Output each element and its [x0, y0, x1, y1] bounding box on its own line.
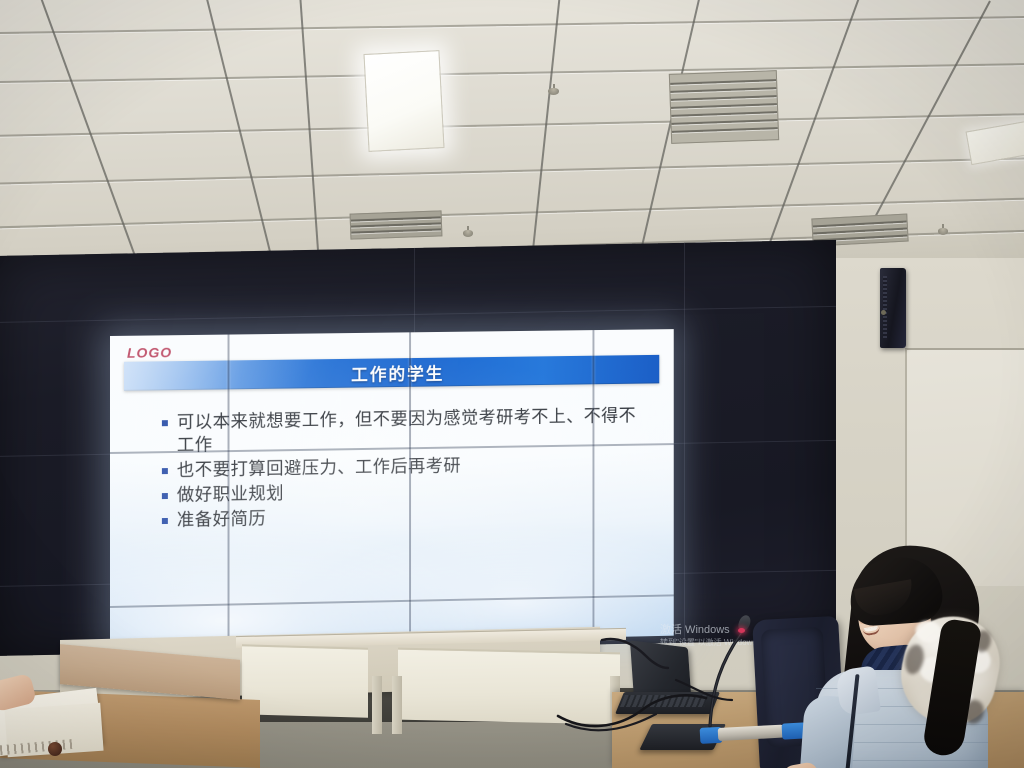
list-item: 可以本来就想要工作，但不要因为感觉考研考不上、不得不工作	[162, 404, 653, 457]
bullet-text: 也不要打算回避压力、工作后再考研	[177, 455, 461, 483]
laptop-keyboard[interactable]	[620, 695, 709, 707]
bullet-text: 做好职业规划	[177, 482, 284, 507]
microphone-led-indicator	[738, 628, 745, 633]
slide-logo: LOGO	[127, 344, 172, 361]
slide-title-bar: 工作的学生	[124, 355, 659, 391]
hvac-diffuser	[350, 210, 443, 239]
table-leg	[372, 676, 382, 734]
bullet-square-icon	[162, 493, 168, 499]
jacket-collar	[835, 665, 881, 716]
speaker-mount-bolt	[881, 310, 886, 315]
slide-bullet-list: 可以本来就想要工作，但不要因为感觉考研考不上、不得不工作 也不要打算回避压力、工…	[162, 404, 653, 534]
slide-title: 工作的学生	[351, 360, 444, 386]
ceiling-rail	[872, 1, 991, 223]
microphone-body	[718, 725, 785, 741]
desk-object	[48, 742, 62, 756]
bullet-square-icon	[162, 420, 168, 426]
hvac-diffuser	[669, 70, 779, 144]
table-modesty-panel	[242, 644, 368, 718]
sprinkler-head	[548, 84, 559, 98]
ceiling-rail	[204, 0, 276, 272]
ceiling-rail	[299, 0, 322, 272]
bullet-text: 可以本来就想要工作，但不要因为感觉考研考不上、不得不工作	[177, 404, 653, 457]
lcd-video-wall-screen[interactable]: LOGO 工作的学生 可以本来就想要工作，但不要因为感觉考研考不上、不得不工作 …	[110, 329, 674, 648]
wall-speaker	[880, 268, 906, 348]
bullet-text: 准备好简历	[177, 508, 266, 533]
table-leg	[392, 676, 402, 734]
laptop-base[interactable]	[615, 692, 720, 714]
suspended-ceiling	[0, 0, 1024, 272]
ceiling-rail	[528, 0, 561, 272]
seated-woman	[806, 528, 1024, 768]
bullet-square-icon	[162, 518, 168, 524]
bullet-square-icon	[162, 468, 168, 474]
sprinkler-head	[463, 226, 473, 239]
table-modesty-panel	[398, 648, 620, 725]
speaker-grill	[883, 276, 887, 340]
ceiling-light-panel	[363, 50, 444, 152]
presentation-slide: LOGO 工作的学生 可以本来就想要工作，但不要因为感觉考研考不上、不得不工作 …	[110, 329, 674, 648]
room-photo: LOGO 工作的学生 可以本来就想要工作，但不要因为感觉考研考不上、不得不工作 …	[0, 0, 1024, 768]
sprinkler-head	[938, 224, 948, 237]
